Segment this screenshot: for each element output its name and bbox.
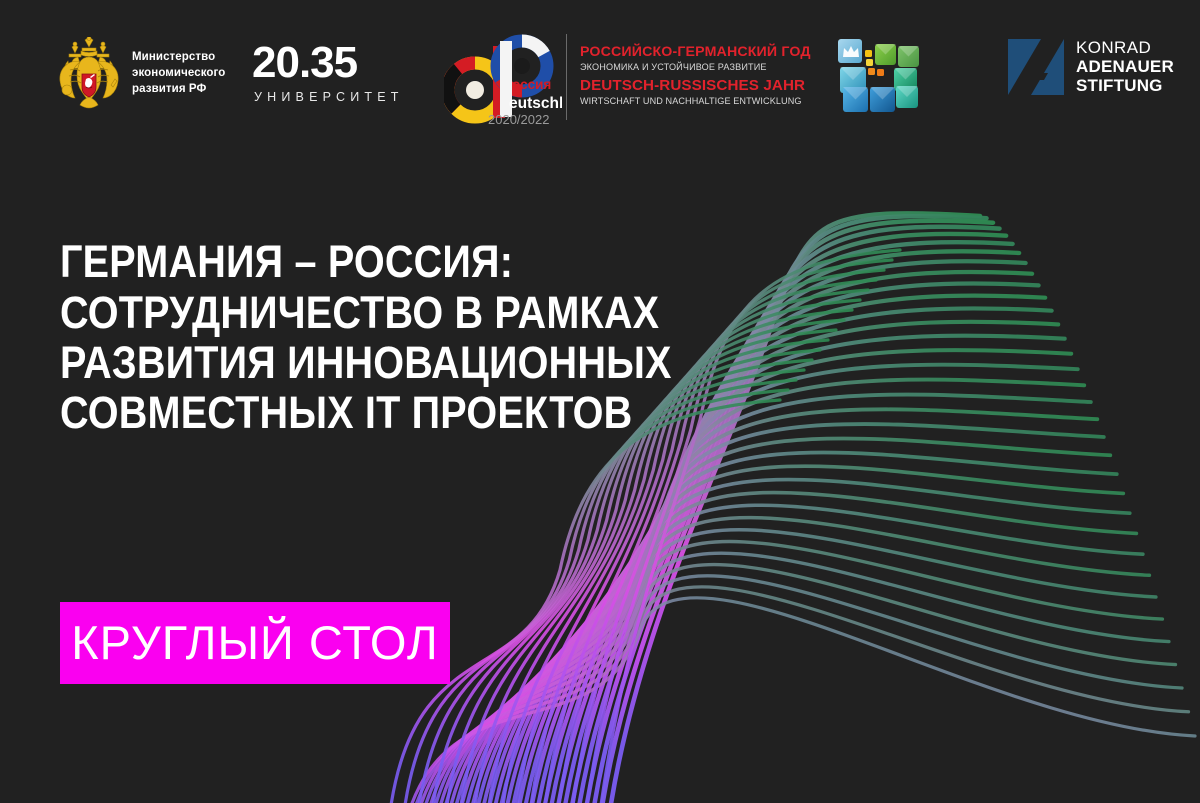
arc-curve xyxy=(444,505,1143,803)
ministry-logo-text: Министерство экономического развития РФ xyxy=(132,49,225,98)
kas-mark-icon xyxy=(1008,39,1064,95)
logo-german-russian-year: оссия eutschland 2020/2022 РОССИЙСКО-ГЕР… xyxy=(444,28,811,128)
arc-curve xyxy=(427,542,1163,803)
poster-canvas: Министерство экономического развития РФ … xyxy=(0,0,1200,803)
russian-coat-of-arms-icon xyxy=(56,37,122,109)
kas-line-3: STIFTUNG xyxy=(1076,76,1174,95)
arc-curve xyxy=(432,530,1156,803)
arc-curve xyxy=(400,598,1195,803)
arc-curve xyxy=(405,587,1188,803)
svg-text:2020/2022: 2020/2022 xyxy=(488,112,549,127)
arc-curve xyxy=(416,565,1176,803)
arc-curve-inner xyxy=(404,390,788,803)
logo-konrad-adenauer-stiftung: KONRAD ADENAUER STIFTUNG xyxy=(1008,38,1174,95)
event-type-badge-label: КРУГЛЫЙ СТОЛ xyxy=(71,619,439,666)
arc-curve-inner xyxy=(418,380,796,803)
logo-mosaic-crown xyxy=(836,37,922,115)
logo-divider xyxy=(566,34,567,120)
logo-ministry-economic-development: Министерство экономического развития РФ xyxy=(56,37,225,109)
svg-text:eutschland: eutschland xyxy=(509,95,562,112)
page-title: ГЕРМАНИЯ – РОССИЯ: СОТРУДНИЧЕСТВО В РАМК… xyxy=(60,237,672,439)
kas-line-1: KONRAD xyxy=(1076,38,1174,57)
svg-text:оссия: оссия xyxy=(512,77,551,92)
mosaic-crown-icon xyxy=(836,37,922,115)
arc-curve xyxy=(411,576,1182,803)
arc-curve xyxy=(421,553,1169,803)
arc-curve xyxy=(491,395,1091,803)
arc-curve xyxy=(438,518,1149,803)
arc-curve xyxy=(467,452,1117,803)
arc-curve xyxy=(473,438,1111,803)
arc-curve xyxy=(485,409,1098,803)
gr-year-line-de-title: DEUTSCH-RUSSISCHES JAHR xyxy=(580,77,811,95)
arc-curve xyxy=(461,466,1124,803)
logo-strip: Министерство экономического развития РФ … xyxy=(0,0,1200,150)
arc-curve xyxy=(455,480,1130,803)
dp-mark-icon: оссия eutschland 2020/2022 xyxy=(444,28,562,128)
arc-curve xyxy=(449,493,1136,803)
gr-year-line-de-sub: WIRTSCHAFT UND NACHHALTIGE ENTWICKLUNG xyxy=(580,95,811,109)
logo-university-2035: 20.35 УНИВЕРСИТЕТ xyxy=(252,42,404,104)
gr-year-line-ru-title: РОССИЙСКО-ГЕРМАНСКИЙ ГОД xyxy=(580,44,811,61)
gr-year-line-ru-sub: ЭКОНОМИКА И УСТОЙЧИВОЕ РАЗВИТИЕ xyxy=(580,61,811,75)
university-2035-subtitle: УНИВЕРСИТЕТ xyxy=(254,90,404,104)
kas-line-2: ADENAUER xyxy=(1076,57,1174,76)
arc-curve xyxy=(497,380,1084,803)
event-type-badge: КРУГЛЫЙ СТОЛ xyxy=(60,602,450,684)
arc-curve xyxy=(479,424,1104,803)
university-2035-number: 20.35 xyxy=(252,42,357,84)
